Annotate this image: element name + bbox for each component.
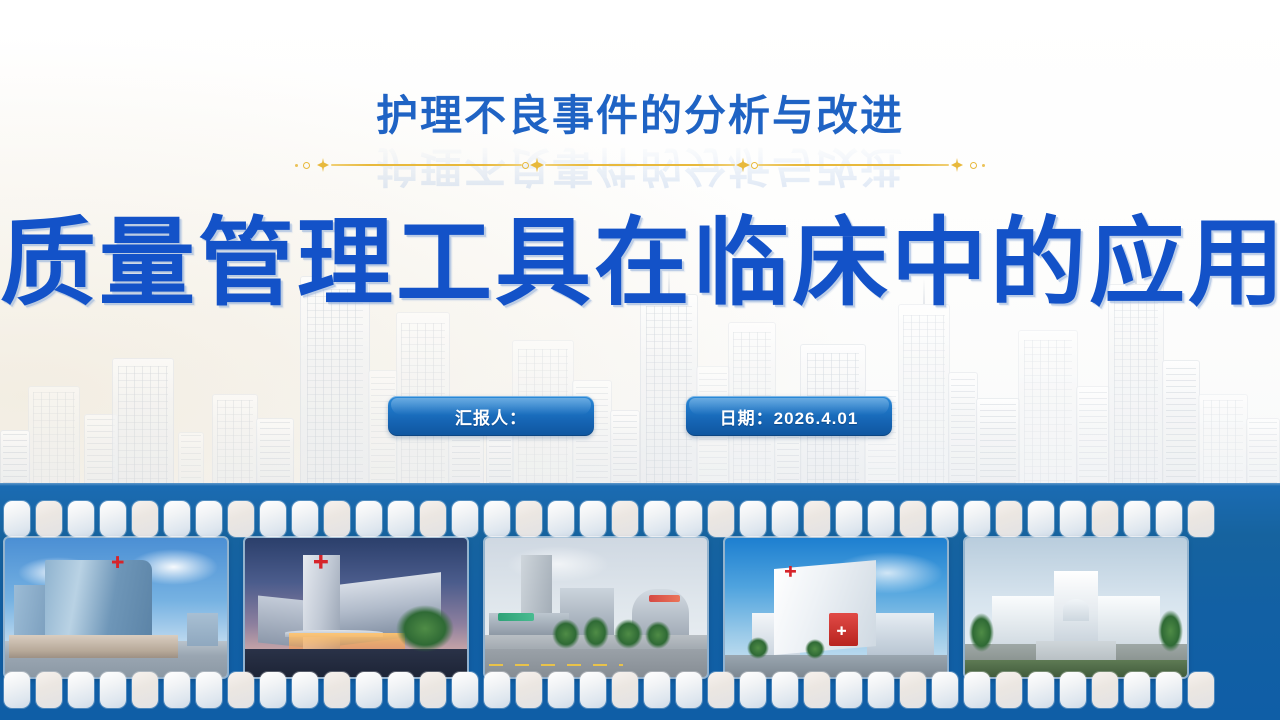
tree — [614, 619, 643, 650]
film-sprocket-hole — [836, 501, 862, 537]
film-sprocket-hole — [548, 501, 574, 537]
subtitle-block: 护理不良事件的分析与改进 护理不良事件的分析与改进 — [0, 95, 1280, 139]
film-sprocket-hole — [100, 501, 126, 537]
film-sprocket-hole — [612, 672, 638, 708]
divider-star-icon — [529, 157, 545, 173]
film-sprocket-hole — [260, 672, 286, 708]
film-strip — [0, 483, 1280, 720]
film-sprocket-hole — [644, 501, 670, 537]
film-sprocket-hole — [164, 501, 190, 537]
hospital-sign-red — [649, 595, 680, 602]
photo-hospital-4[interactable] — [725, 538, 947, 677]
skyline-building — [640, 294, 698, 490]
film-sprocket-hole — [452, 672, 478, 708]
presenter-button[interactable]: 汇报人： — [388, 396, 594, 436]
right-block — [867, 613, 934, 655]
film-sprocket-hole — [164, 672, 190, 708]
film-sprocket-hole — [740, 501, 766, 537]
divider-line — [331, 164, 522, 166]
film-sprocket-hole — [676, 501, 702, 537]
film-sprocket-hole — [36, 501, 62, 537]
right-wing — [1094, 596, 1161, 643]
divider-star-icon — [949, 157, 965, 173]
film-sprocket-hole — [420, 672, 446, 708]
film-sprocket-hole — [484, 672, 510, 708]
film-sprocket-hole — [580, 501, 606, 537]
film-sprocket-hole — [964, 672, 990, 708]
film-sprocket-hole — [132, 501, 158, 537]
film-sprocket-hole — [228, 672, 254, 708]
meta-button-row: 汇报人： 日期：2026.4.01 — [0, 396, 1280, 436]
film-sprocket-hole — [900, 672, 926, 708]
film-sprocket-hole — [932, 501, 958, 537]
tree — [552, 619, 581, 650]
divider-ring-icon — [970, 162, 977, 169]
date-label: 日期：2026.4.01 — [720, 404, 859, 429]
film-sprocket-hole — [708, 501, 734, 537]
photo-row — [0, 538, 1280, 677]
film-sprocket-hole — [68, 672, 94, 708]
film-sprocket-hole — [1060, 672, 1086, 708]
tree — [583, 616, 610, 649]
tree — [747, 637, 769, 659]
divider-ring-icon — [522, 162, 529, 169]
podium — [9, 635, 178, 657]
main-tower — [45, 560, 152, 646]
film-sprocket-hole — [132, 672, 158, 708]
slide-title: 质量管理工具在临床中的应用 — [0, 212, 1280, 316]
film-sprocket-hole — [516, 501, 542, 537]
hospital-sign-green — [498, 613, 534, 621]
film-sprocket-hole — [4, 501, 30, 537]
divider-dot-icon — [295, 164, 298, 167]
film-sprocket-hole — [548, 672, 574, 708]
presenter-label: 汇报人： — [455, 404, 527, 429]
film-sprocket-hole — [772, 501, 798, 537]
photo-hospital-2[interactable] — [245, 538, 467, 677]
film-sprocket-hole — [804, 501, 830, 537]
road-marking — [489, 664, 622, 666]
film-sprocket-hole — [324, 672, 350, 708]
divider-star-icon — [315, 157, 331, 173]
film-sprocket-hole — [36, 672, 62, 708]
lit-lobby — [289, 633, 404, 650]
film-sprocket-hole — [68, 501, 94, 537]
film-sprocket-hole — [996, 672, 1022, 708]
film-sprocket-hole — [996, 501, 1022, 537]
tree — [969, 613, 993, 652]
skyline-building — [0, 430, 30, 490]
film-sprocket-hole — [1124, 672, 1150, 708]
skyline-building — [178, 432, 204, 490]
rotunda — [1063, 599, 1090, 621]
film-sprocket-hole — [388, 672, 414, 708]
film-sprocket-hole — [292, 672, 318, 708]
film-sprocket-hole — [708, 672, 734, 708]
divider-star-icon — [735, 157, 751, 173]
film-sprocket-hole — [644, 672, 670, 708]
film-sprocket-hole — [1060, 501, 1086, 537]
film-sprocket-hole — [196, 672, 222, 708]
film-sprocket-hole — [804, 672, 830, 708]
far-building — [187, 613, 218, 646]
divider-dot-icon — [982, 164, 985, 167]
film-sprocket-hole — [932, 672, 958, 708]
divider-line — [545, 164, 736, 166]
film-sprocket-hole — [516, 672, 542, 708]
film-sprocket-hole — [612, 501, 638, 537]
film-sprocket-hole — [740, 672, 766, 708]
divider-ring-icon — [751, 162, 758, 169]
date-button[interactable]: 日期：2026.4.01 — [686, 396, 892, 436]
film-sprocket-hole — [196, 501, 222, 537]
film-sprocket-hole — [868, 672, 894, 708]
film-sprocket-hole — [772, 672, 798, 708]
film-sprocket-hole — [292, 501, 318, 537]
divider-line — [758, 164, 949, 166]
tree — [805, 639, 825, 658]
film-sprocket-hole — [1188, 501, 1214, 537]
film-sprocket-hole — [388, 501, 414, 537]
photo-hospital-3[interactable] — [485, 538, 707, 677]
film-sprocket-hole — [676, 672, 702, 708]
photo-hospital-5[interactable] — [965, 538, 1187, 677]
film-sprocket-hole — [1188, 672, 1214, 708]
film-sprocket-hole — [228, 501, 254, 537]
film-sprocket-hole — [452, 501, 478, 537]
film-sprocket-hole — [1124, 501, 1150, 537]
tree — [1158, 610, 1182, 652]
subtitle-reflection: 护理不良事件的分析与改进 — [0, 139, 1280, 200]
film-sprocket-hole — [1092, 501, 1118, 537]
film-sprocket-hole — [1028, 501, 1054, 537]
film-sprocket-hole — [4, 672, 30, 708]
film-sprocket-hole — [356, 672, 382, 708]
film-sprocket-hole — [100, 672, 126, 708]
film-sprocket-hole — [356, 501, 382, 537]
film-sprocket-hole — [1156, 672, 1182, 708]
film-sprocket-hole — [836, 672, 862, 708]
tree — [645, 621, 672, 649]
film-sprocket-hole — [868, 501, 894, 537]
divider-ring-icon — [303, 162, 310, 169]
photo-hospital-1[interactable] — [5, 538, 227, 677]
tree — [396, 605, 454, 652]
film-sprocket-hole — [580, 672, 606, 708]
film-sprocket-hole — [260, 501, 286, 537]
film-sprocket-hole — [420, 501, 446, 537]
film-sprocket-hole — [964, 501, 990, 537]
film-sprocket-hole — [324, 501, 350, 537]
sprocket-row-bottom — [0, 671, 1280, 709]
film-sprocket-hole — [900, 501, 926, 537]
sprocket-row-top — [0, 500, 1280, 538]
film-sprocket-hole — [484, 501, 510, 537]
presentation-slide: 护理不良事件的分析与改进 护理不良事件的分析与改进 质量管理工具在临床中的应用 — [0, 0, 1280, 720]
film-sprocket-hole — [1156, 501, 1182, 537]
film-sprocket-hole — [1092, 672, 1118, 708]
slide-subtitle: 护理不良事件的分析与改进 — [376, 95, 904, 139]
left-wing — [992, 596, 1059, 643]
gold-divider — [295, 155, 985, 175]
film-sprocket-hole — [1028, 672, 1054, 708]
